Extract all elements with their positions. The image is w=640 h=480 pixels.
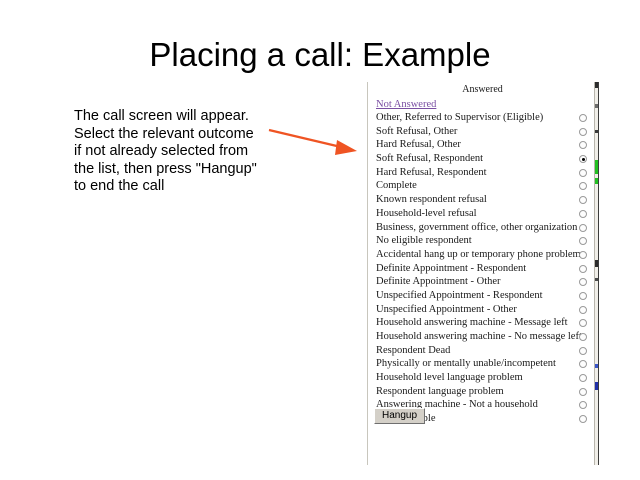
- outcome-radio-button[interactable]: [579, 278, 587, 286]
- scrollbar-mark: [595, 104, 598, 108]
- scrollbar-mark: [595, 178, 598, 184]
- outcome-row[interactable]: Known respondent refusal: [368, 193, 596, 207]
- outcome-label: Household level language problem: [376, 371, 523, 385]
- outcome-label: Known respondent refusal: [376, 193, 487, 207]
- caption-line: the list, then press "Hangup": [74, 161, 284, 179]
- outcome-row[interactable]: Physically or mentally unable/incompeten…: [368, 357, 596, 371]
- outcome-label: Business, government office, other organ…: [376, 221, 577, 235]
- caption-line: to end the call: [74, 178, 284, 196]
- outcome-radio-button[interactable]: [579, 155, 587, 163]
- outcome-radio-button[interactable]: [579, 224, 587, 232]
- outcome-label: Unspecified Appointment - Respondent: [376, 289, 543, 303]
- outcome-label: Physically or mentally unable/incompeten…: [376, 357, 556, 371]
- outcome-radio-button[interactable]: [579, 196, 587, 204]
- outcome-label: Soft Refusal, Respondent: [376, 152, 483, 166]
- outcome-label: Household answering machine - No message…: [376, 330, 582, 344]
- scrollbar-mark: [595, 364, 598, 368]
- outcome-radio-button[interactable]: [579, 182, 587, 190]
- outcome-row[interactable]: Respondent Dead: [368, 344, 596, 358]
- outcome-radio-button[interactable]: [579, 169, 587, 177]
- answered-column-header: Answered: [368, 84, 596, 95]
- outcome-row[interactable]: Soft Refusal, Respondent: [368, 152, 596, 166]
- outcome-radio-list: Other, Referred to Supervisor (Eligible)…: [368, 111, 596, 426]
- outcome-radio-button[interactable]: [579, 415, 587, 423]
- outcome-label: Respondent language problem: [376, 385, 504, 399]
- not-answered-link[interactable]: Not Answered: [376, 99, 436, 110]
- scrollbar-mark: [595, 260, 598, 267]
- outcome-row[interactable]: Unspecified Appointment - Other: [368, 303, 596, 317]
- outcome-radio-button[interactable]: [579, 360, 587, 368]
- outcome-row[interactable]: Accidental hang up or temporary phone pr…: [368, 248, 596, 262]
- outcome-label: Definite Appointment - Other: [376, 275, 501, 289]
- outcome-label: Soft Refusal, Other: [376, 125, 457, 139]
- outcome-label: Accidental hang up or temporary phone pr…: [376, 248, 581, 262]
- outcome-radio-button[interactable]: [579, 333, 587, 341]
- outcome-label: Hard Refusal, Respondent: [376, 166, 487, 180]
- outcome-label: Unspecified Appointment - Other: [376, 303, 517, 317]
- outcome-radio-button[interactable]: [579, 128, 587, 136]
- outcome-label: Hard Refusal, Other: [376, 138, 461, 152]
- outcome-row[interactable]: Soft Refusal, Other: [368, 125, 596, 139]
- outcome-row[interactable]: Complete: [368, 179, 596, 193]
- page-title: Placing a call: Example: [0, 36, 640, 74]
- outcome-label: Household answering machine - Message le…: [376, 316, 568, 330]
- outcome-label: Complete: [376, 179, 417, 193]
- call-screen-panel: Answered Not Answered Other, Referred to…: [367, 82, 596, 465]
- instruction-caption: The call screen will appear. Select the …: [74, 108, 284, 196]
- outcome-row[interactable]: Definite Appointment - Other: [368, 275, 596, 289]
- caption-line: if not already selected from: [74, 143, 284, 161]
- outcome-row[interactable]: No eligible respondent: [368, 234, 596, 248]
- outcome-row[interactable]: Other, Referred to Supervisor (Eligible): [368, 111, 596, 125]
- outcome-row[interactable]: Household answering machine - No message…: [368, 330, 596, 344]
- caption-line: The call screen will appear.: [74, 108, 284, 126]
- outcome-label: Other, Referred to Supervisor (Eligible): [376, 111, 543, 125]
- hangup-button[interactable]: Hangup: [374, 408, 425, 424]
- outcome-radio-button[interactable]: [579, 401, 587, 409]
- outcome-label: Definite Appointment - Respondent: [376, 262, 526, 276]
- outcome-label: Respondent Dead: [376, 344, 450, 358]
- caption-line: Select the relevant outcome: [74, 126, 284, 144]
- outcome-radio-button[interactable]: [579, 374, 587, 382]
- outcome-radio-button[interactable]: [579, 319, 587, 327]
- outcome-row[interactable]: Hard Refusal, Other: [368, 138, 596, 152]
- scrollbar-mark: [595, 382, 598, 390]
- outcome-label: Household-level refusal: [376, 207, 477, 221]
- outcome-radio-button[interactable]: [579, 251, 587, 259]
- outcome-radio-button[interactable]: [579, 306, 587, 314]
- outcome-row[interactable]: Unspecified Appointment - Respondent: [368, 289, 596, 303]
- outcome-radio-button[interactable]: [579, 388, 587, 396]
- outcome-row[interactable]: Hard Refusal, Respondent: [368, 166, 596, 180]
- outcome-radio-button[interactable]: [579, 237, 587, 245]
- outcome-row[interactable]: Respondent language problem: [368, 385, 596, 399]
- outcome-label: No eligible respondent: [376, 234, 472, 248]
- outcome-row[interactable]: Household level language problem: [368, 371, 596, 385]
- scrollbar-mark: [595, 278, 598, 281]
- outcome-row[interactable]: Household-level refusal: [368, 207, 596, 221]
- scrollbar-mark: [595, 130, 598, 133]
- outcome-row[interactable]: Business, government office, other organ…: [368, 221, 596, 235]
- scrollbar-mark: [595, 82, 598, 88]
- outcome-row[interactable]: Definite Appointment - Respondent: [368, 262, 596, 276]
- outcome-radio-button[interactable]: [579, 141, 587, 149]
- scrollbar-mark: [595, 160, 598, 174]
- outcome-radio-button[interactable]: [579, 292, 587, 300]
- outcome-radio-button[interactable]: [579, 114, 587, 122]
- outcome-radio-button[interactable]: [579, 347, 587, 355]
- window-scrollbar-strip[interactable]: [594, 82, 599, 465]
- outcome-radio-button[interactable]: [579, 265, 587, 273]
- outcome-radio-button[interactable]: [579, 210, 587, 218]
- outcome-row[interactable]: Household answering machine - Message le…: [368, 316, 596, 330]
